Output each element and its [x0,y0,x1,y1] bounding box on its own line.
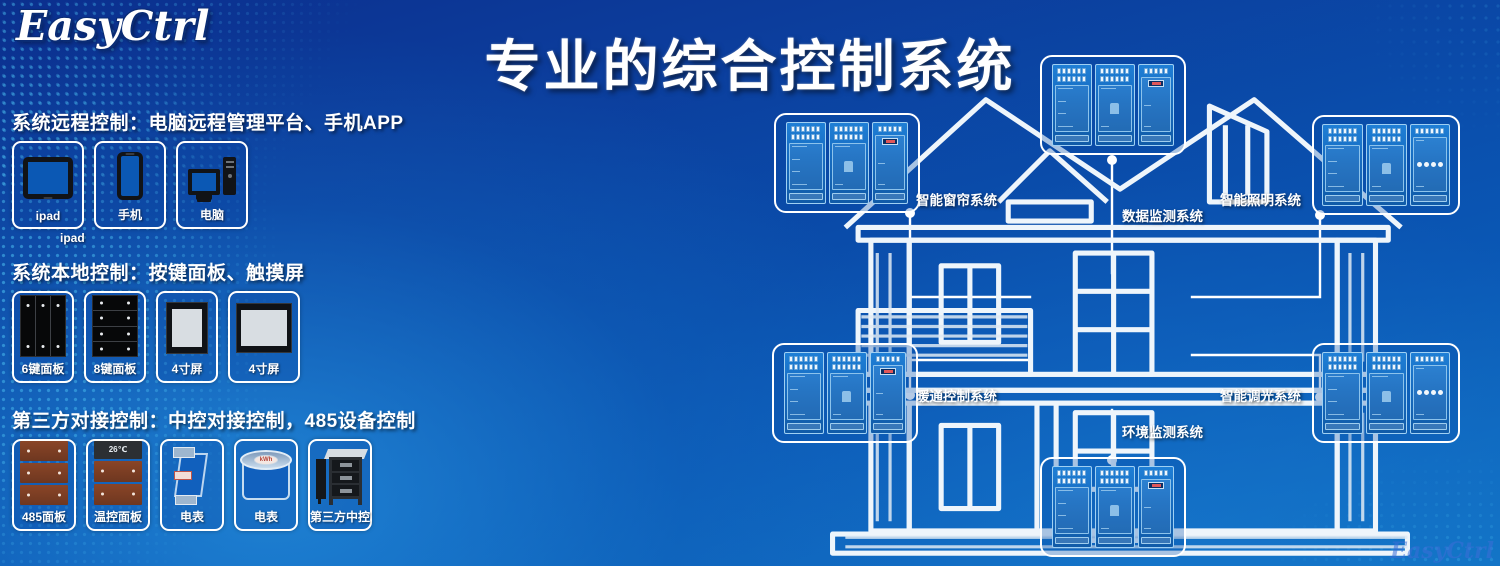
node-box-dimming[interactable] [1312,343,1460,443]
device-card-label: 6键面板 [22,360,65,377]
rs485-panel-icon [18,441,70,505]
node-box-curtain[interactable] [774,113,920,213]
section-third-party-control: 第三方对接控制：中控对接控制，485设备控制 485面板 26℃ 温控面板 [8,406,416,531]
extra-caption-ipad: ipad [8,231,404,245]
device-card-8key-panel[interactable]: 8键面板 [84,291,146,383]
device-card-third-party-controller[interactable]: 第三方中控 [308,439,372,531]
smartphone-icon [100,149,160,203]
brand-logo: EasyCtrl [16,2,209,50]
section-title-remote: 系统远程控制：电脑远程管理平台、手机APP [8,108,404,135]
tablet-icon [18,149,78,206]
section-title-third-party: 第三方对接控制：中控对接控制，485设备控制 [8,406,416,433]
section-title-local: 系统本地控制：按键面板、触摸屏 [8,258,305,285]
poster-canvas: EasyCtrl 专业的综合控制系统 系统远程控制：电脑远程管理平台、手机APP… [0,0,1500,566]
four-inch-screen-icon [162,299,212,357]
node-box-environment[interactable] [1040,457,1186,557]
device-card-6key-panel[interactable]: 6键面板 [12,291,74,383]
device-card-485-panel[interactable]: 485面板 [12,439,76,531]
meter-dial-readout: kWh [254,455,278,465]
device-card-label: ipad [36,209,61,223]
section-remote-control: 系统远程控制：电脑远程管理平台、手机APP ipad 手机 电脑 ipad [8,108,404,245]
card-row-third-party: 485面板 26℃ 温控面板 电表 [8,439,416,531]
device-card-computer[interactable]: 电脑 [176,141,248,229]
node-box-hvac[interactable] [772,343,918,443]
device-card-label: 手机 [118,206,142,223]
device-card-label: 第三方中控 [310,508,370,525]
node-label-environment: 环境监测系统 [1122,421,1203,441]
device-card-label: 温控面板 [94,508,142,525]
device-card-phone[interactable]: 手机 [94,141,166,229]
thermostat-temperature-readout: 26℃ [94,441,142,459]
node-label-data: 数据监测系统 [1122,205,1203,225]
section-local-control: 系统本地控制：按键面板、触摸屏 6键面板 8键面板 4寸屏 [8,258,305,383]
device-card-label: 4寸屏 [249,360,280,377]
electric-meter-box-icon [166,445,218,505]
thermostat-panel-icon: 26℃ [92,441,144,505]
corner-watermark: EasyCtrl [1390,538,1494,564]
device-card-label: 485面板 [22,508,66,525]
four-inch-screen-wide-icon [234,299,294,357]
device-card-ipad[interactable]: ipad [12,141,84,229]
desktop-computer-icon [182,149,242,203]
node-box-data[interactable] [1040,55,1186,155]
device-card-label: 电脑 [200,206,224,223]
node-label-curtain: 智能窗帘系统 [916,189,997,209]
device-card-label: 8键面板 [94,360,137,377]
node-label-lighting: 智能照明系统 [1220,189,1301,209]
node-label-dimming: 智能调光系统 [1220,385,1301,405]
device-card-thermostat-panel[interactable]: 26℃ 温控面板 [86,439,150,531]
electric-meter-round-icon: kWh [240,447,292,505]
system-topology-diagram: 智能窗帘系统 数据监测系统 智能照明系统 暖通控制系统 环境监测系统 [740,55,1500,566]
device-card-label: 电表 [254,508,278,525]
card-row-remote: ipad 手机 电脑 [8,141,404,229]
device-card-meter-box[interactable]: 电表 [160,439,224,531]
device-card-4inch-screen[interactable]: 4寸屏 [156,291,218,383]
device-card-4inch-screen-wide[interactable]: 4寸屏 [228,291,300,383]
card-row-local: 6键面板 8键面板 4寸屏 4寸屏 [8,291,305,383]
eight-key-panel-icon [90,295,140,357]
device-card-label: 4寸屏 [172,360,203,377]
device-card-meter-round[interactable]: kWh 电表 [234,439,298,531]
node-label-hvac: 暖通控制系统 [916,385,997,405]
six-key-panel-icon [18,295,68,357]
third-party-controller-icon [314,447,366,505]
node-box-lighting[interactable] [1312,115,1460,215]
device-card-label: 电表 [180,508,204,525]
